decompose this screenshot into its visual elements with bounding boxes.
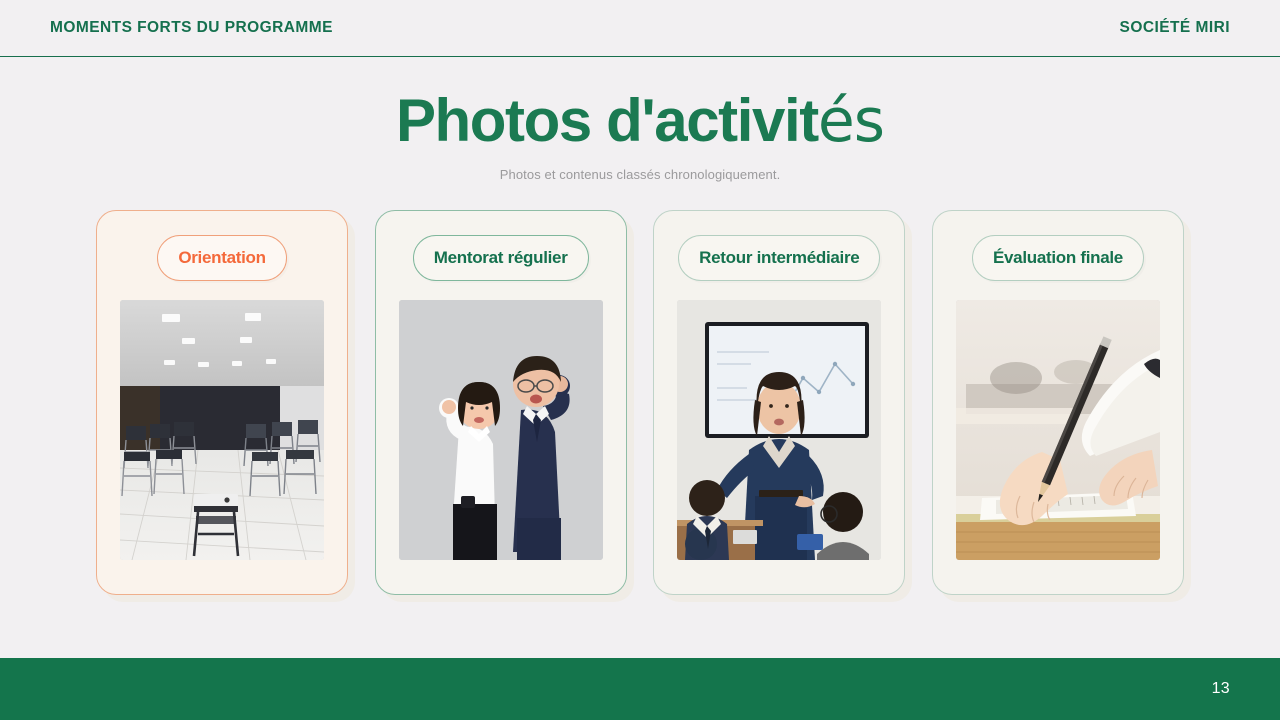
page-title: Photos d'activités: [0, 89, 1280, 153]
card-badge-label[interactable]: Mentorat régulier: [413, 235, 589, 281]
card-photo-orientation: [120, 300, 324, 560]
card-surface: Retour intermédiaire: [653, 210, 905, 595]
slide-header: MOMENTS FORTS DU PROGRAMME SOCIÉTÉ MIRI: [0, 0, 1280, 57]
two-colleagues-celebrating-illustration: [399, 300, 603, 560]
card-badge-label[interactable]: Retour intermédiaire: [678, 235, 880, 281]
card-surface: Évaluation finale: [932, 210, 1184, 595]
activity-card-retour[interactable]: Retour intermédiaire: [653, 210, 905, 595]
header-section-label: MOMENTS FORTS DU PROGRAMME: [50, 19, 333, 37]
slide-body: Photos d'activités Photos et contenus cl…: [0, 57, 1280, 658]
card-photo-mentorat: [399, 300, 603, 560]
page-title-main: Photos d'activit: [396, 87, 818, 154]
card-photo-evaluation: [956, 300, 1160, 560]
header-brand-label: SOCIÉTÉ MIRI: [1120, 19, 1230, 37]
hands-writing-with-pencil-illustration: [956, 300, 1160, 560]
activity-card-row: Orientation: [0, 210, 1280, 595]
slide-footer: 13: [0, 658, 1280, 720]
page-title-tail: és: [818, 86, 884, 156]
page-subtitle: Photos et contenus classés chronologique…: [0, 167, 1280, 182]
card-badge-label[interactable]: Orientation: [157, 235, 286, 281]
slide: MOMENTS FORTS DU PROGRAMME SOCIÉTÉ MIRI …: [0, 0, 1280, 720]
title-block: Photos d'activités Photos et contenus cl…: [0, 89, 1280, 182]
presenter-with-screen-illustration: [677, 300, 881, 560]
card-surface: Orientation: [96, 210, 348, 595]
card-photo-retour: [677, 300, 881, 560]
seminar-room-illustration: [120, 300, 324, 560]
card-surface: Mentorat régulier: [375, 210, 627, 595]
activity-card-evaluation[interactable]: Évaluation finale: [932, 210, 1184, 595]
activity-card-mentorat[interactable]: Mentorat régulier: [375, 210, 627, 595]
page-number: 13: [1212, 680, 1230, 698]
activity-card-orientation[interactable]: Orientation: [96, 210, 348, 595]
card-badge-label[interactable]: Évaluation finale: [972, 235, 1144, 281]
